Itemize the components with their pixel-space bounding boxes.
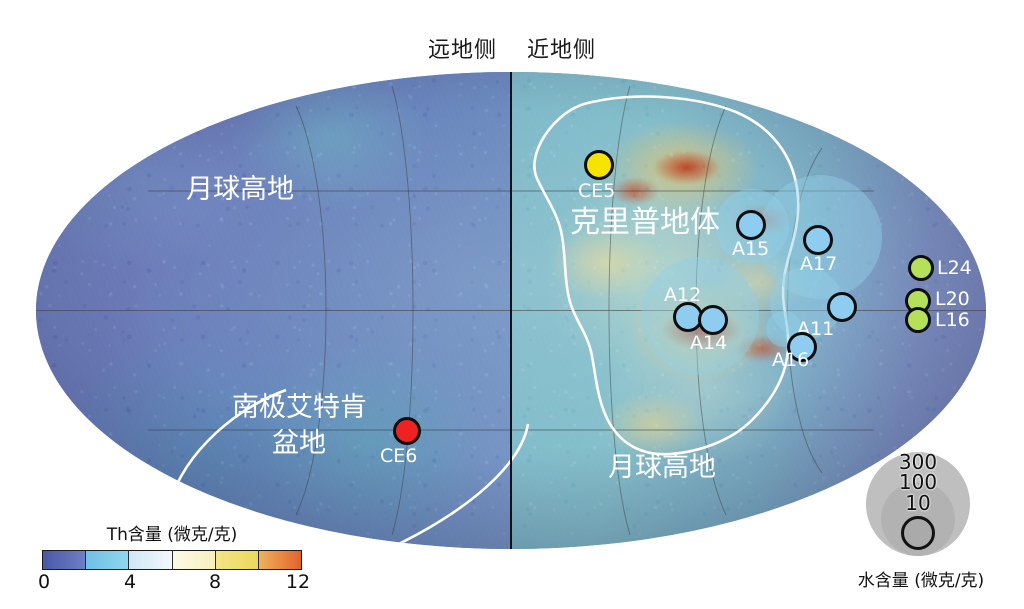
- site-label-a15: A15: [732, 238, 769, 260]
- nearside-label: 近地侧: [527, 32, 596, 64]
- thorium-colorbar: Th含量 (微克/克) 0 4 8 12: [42, 520, 302, 595]
- hemisphere-labels: 远地侧 近地侧: [0, 32, 1024, 64]
- central-meridian: [510, 72, 512, 549]
- water-ring-10: [901, 516, 935, 550]
- water-legend-value-100: 100: [866, 472, 970, 492]
- farside-label: 远地侧: [428, 32, 497, 64]
- site-label-ce5: CE5: [578, 180, 615, 202]
- region-label-highlands-farside: 月球高地: [186, 174, 294, 205]
- site-label-a17: A17: [800, 253, 837, 275]
- site-label-l20: L20: [935, 288, 970, 310]
- region-label-highlands-nearside: 月球高地: [608, 452, 716, 483]
- site-label-a14: A14: [690, 332, 727, 354]
- site-label-l24: L24: [937, 257, 972, 279]
- colorbar-segment-4: [173, 551, 216, 569]
- colorbar-tick-4: 4: [124, 571, 136, 593]
- colorbar-segment-6: [259, 551, 301, 569]
- site-marker-a14[interactable]: [698, 305, 728, 335]
- colorbar-segment-3: [129, 551, 172, 569]
- colorbar-segment-2: [86, 551, 129, 569]
- colorbar-title: Th含量 (微克/克): [42, 520, 302, 545]
- water-legend-value-10: 10: [866, 493, 970, 513]
- site-label-ce6: CE6: [380, 445, 417, 467]
- site-marker-l16[interactable]: [905, 307, 931, 333]
- site-label-a12: A12: [664, 284, 701, 306]
- water-legend-value-300: 300: [866, 452, 970, 472]
- site-label-a16: A16: [772, 349, 809, 371]
- water-content-size-legend: 300 100 10: [866, 452, 970, 556]
- lunar-th-map-figure: 远地侧 近地侧: [0, 0, 1024, 609]
- water-legend-title: 水含量 (微克/克): [826, 566, 1016, 591]
- colorbar-tick-12: 12: [286, 571, 310, 593]
- site-marker-a15[interactable]: [736, 210, 766, 240]
- colorbar-tick-8: 8: [209, 571, 221, 593]
- colorbar-ticks: 0 4 8 12: [42, 571, 302, 595]
- site-marker-ce5[interactable]: [584, 150, 614, 180]
- site-marker-a17[interactable]: [803, 225, 833, 255]
- water-legend-values: 300 100 10: [866, 452, 970, 513]
- region-label-kreep-terrane: 克里普地体: [570, 206, 720, 241]
- site-marker-l24[interactable]: [908, 255, 934, 281]
- site-marker-ce6[interactable]: [393, 417, 421, 445]
- colorbar-gradient: [42, 550, 302, 570]
- region-label-spa-basin-line2: 盆地: [272, 428, 326, 459]
- colorbar-segment-5: [216, 551, 259, 569]
- colorbar-segment-1: [43, 551, 86, 569]
- colorbar-tick-0: 0: [38, 571, 50, 593]
- site-label-l16: L16: [935, 309, 970, 331]
- region-label-spa-basin-line1: 南极艾特肯: [232, 392, 367, 423]
